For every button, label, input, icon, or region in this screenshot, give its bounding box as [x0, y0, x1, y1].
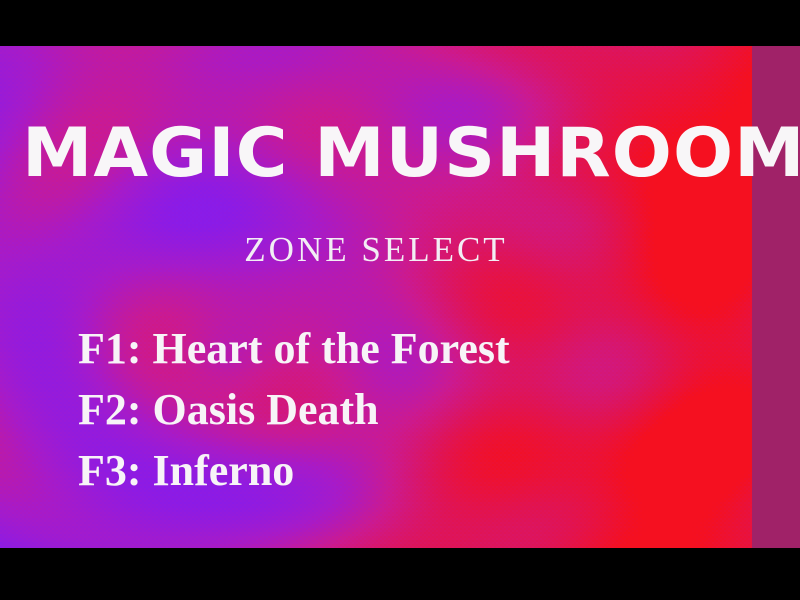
letterbox-bar-bottom — [0, 548, 800, 600]
game-screen: MAGIC MUSHROOM ZONE SELECT F1: Heart of … — [0, 0, 800, 600]
menu-item-f3[interactable]: F3: Inferno — [78, 440, 738, 501]
menu-item-f2[interactable]: F2: Oasis Death — [78, 379, 738, 440]
menu-item-f1[interactable]: F1: Heart of the Forest — [78, 318, 738, 379]
letterbox-bar-top — [0, 0, 800, 46]
zone-select-heading: ZONE SELECT — [0, 231, 752, 269]
game-title: MAGIC MUSHROOM — [22, 118, 777, 190]
zone-select-menu: F1: Heart of the Forest F2: Oasis Death … — [78, 318, 738, 501]
